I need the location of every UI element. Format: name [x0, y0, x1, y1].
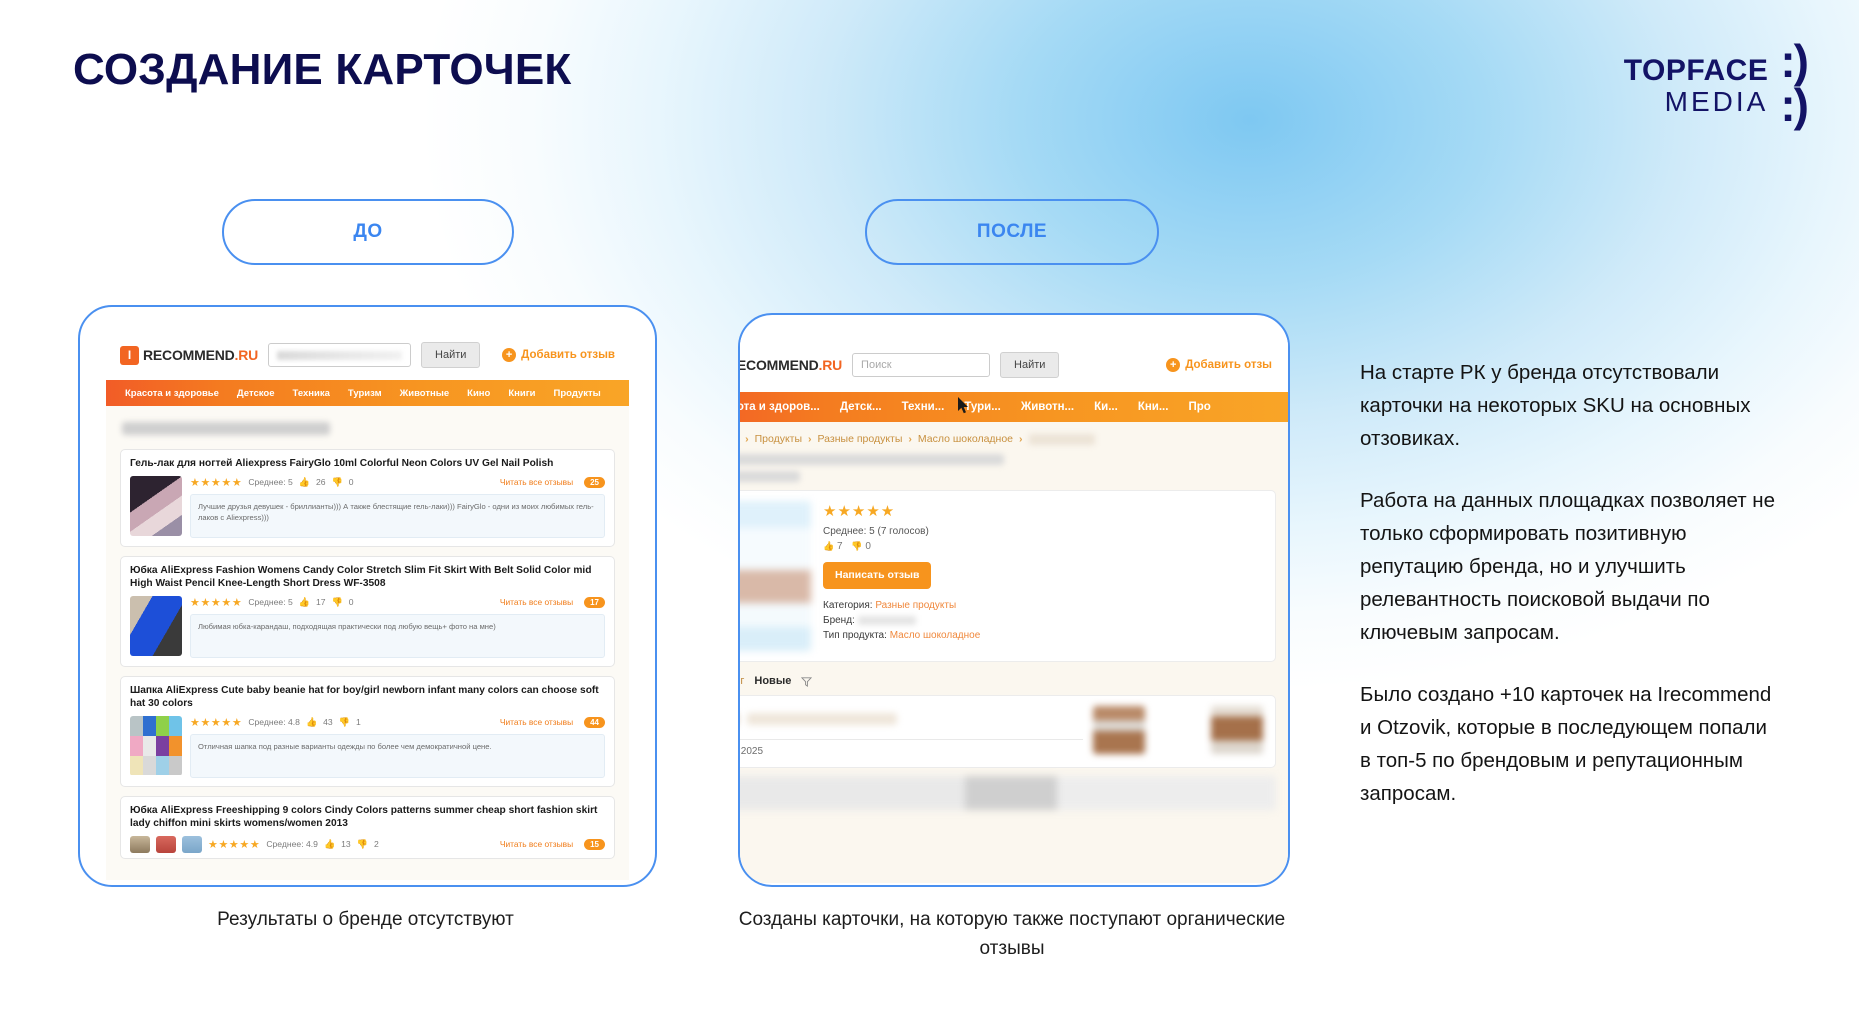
dislikes-count: 0	[349, 597, 354, 607]
category-label: Категория:	[823, 600, 873, 611]
chevron-right-icon: ›	[1019, 433, 1023, 445]
likes-count: 43	[323, 717, 333, 727]
review-snippet: Любимая юбка-карандаш, подходящая практи…	[190, 614, 605, 658]
mouse-cursor-icon	[958, 397, 970, 415]
smiley-icon: :) :)	[1780, 40, 1807, 127]
breadcrumb-current-blurred	[1029, 434, 1095, 445]
review-list-item[interactable]: Юбка AliExpress Freeshipping 9 colors Ci…	[120, 796, 615, 859]
review-count-badge: 25	[584, 477, 605, 488]
product-card: ★★★★★ Среднее: 5 (7 голосов) 👍 7 👎 0 Нап…	[738, 490, 1276, 662]
smiley-glyph-bottom: :)	[1780, 84, 1807, 128]
average-rating: Среднее: 5	[248, 597, 292, 607]
screenshot-frame-after: I RECOMMEND.RU Поиск Найти + Добавить от…	[738, 313, 1290, 887]
average-rating: Среднее: 4.8	[248, 717, 300, 727]
likes-count: 7	[837, 541, 843, 552]
breadcrumb: ..зывов › Продукты › Разные продукты › М…	[738, 422, 1288, 454]
nav-item[interactable]: Кни...	[1128, 401, 1179, 413]
description-copy: На старте РК у бренда отсутствовали карт…	[1360, 356, 1780, 810]
review-sort-tabs: Рейтинг Новые	[738, 662, 1288, 695]
chevron-right-icon: ›	[745, 433, 749, 445]
brand-value-blurred	[858, 616, 916, 625]
rating-stars: ★★★★★	[190, 596, 242, 609]
recommend-logo-icon[interactable]: I RECOMMEND.RU	[120, 346, 258, 365]
find-button-before[interactable]: Найти	[421, 342, 480, 368]
thumbs-down-icon[interactable]: 👎	[851, 541, 862, 551]
type-value[interactable]: Масло шоколадное	[890, 630, 981, 641]
tab-sort-rating[interactable]: Рейтинг	[738, 675, 744, 687]
review-list-item[interactable]: Шапка AliExpress Cute baby beanie hat fo…	[120, 676, 615, 787]
review-thumbnail	[130, 836, 150, 853]
site-header-after: I RECOMMEND.RU Поиск Найти + Добавить от…	[738, 338, 1288, 392]
rating-stars: ★★★★★	[190, 716, 242, 729]
nav-item[interactable]: Техни...	[892, 401, 955, 413]
nav-item[interactable]: Ки...	[1084, 401, 1128, 413]
review-photo[interactable]	[1211, 706, 1263, 754]
review-title[interactable]: Юбка AliExpress Fashion Womens Candy Col…	[130, 564, 605, 591]
nav-item[interactable]: Детское	[228, 388, 284, 399]
product-category-row: Категория: Разные продукты	[823, 598, 1265, 613]
avatar	[738, 706, 739, 732]
search-input-after[interactable]: Поиск	[852, 353, 990, 377]
rating-stars: ★★★★★	[190, 476, 242, 489]
breadcrumb-item[interactable]: Продукты	[755, 433, 802, 445]
before-site-screenshot: I RECOMMEND.RU Найти + Добавить отзыв Кр…	[106, 330, 629, 880]
site-header-before: I RECOMMEND.RU Найти + Добавить отзыв	[106, 330, 629, 380]
product-brand-row: Бренд:	[823, 613, 1265, 628]
search-placeholder: Поиск	[861, 359, 891, 371]
nav-item[interactable]: Животн...	[1011, 401, 1084, 413]
screenshot-frame-before: I RECOMMEND.RU Найти + Добавить отзыв Кр…	[78, 305, 657, 887]
review-thumbnail	[156, 836, 176, 853]
review-count-badge: 15	[584, 839, 605, 850]
logo-media-text: MEDIA	[1665, 88, 1769, 116]
review-list-item[interactable]: Гель-лак для ногтей Aliexpress FairyGlo …	[120, 449, 615, 547]
caption-before: Результаты о бренде отсутствуют	[78, 905, 653, 934]
copy-paragraph-1: На старте РК у бренда отсутствовали карт…	[1360, 356, 1780, 456]
review-photo[interactable]	[1093, 706, 1145, 754]
search-input-before[interactable]	[268, 343, 411, 367]
review-thumbnail	[130, 476, 182, 536]
review-thumbnail	[130, 596, 182, 656]
category-value[interactable]: Разные продукты	[875, 600, 956, 611]
review-list-item[interactable]: Юбка AliExpress Fashion Womens Candy Col…	[120, 556, 615, 667]
product-image	[738, 501, 811, 651]
thumbs-down-icon: 👎	[339, 717, 350, 728]
caption-after: Созданы карточки, на которую также посту…	[718, 905, 1306, 964]
plus-icon: +	[502, 348, 516, 362]
recommend-logo-icon[interactable]: I RECOMMEND.RU	[738, 356, 842, 375]
filter-funnel-icon[interactable]	[801, 676, 812, 687]
review-photo[interactable]	[1152, 706, 1204, 754]
page-heading-blurred	[106, 406, 629, 449]
reviewer-name-blurred	[747, 713, 897, 725]
thumbs-up-icon: 👍	[299, 477, 310, 488]
thumbs-down-icon: 👎	[357, 839, 368, 850]
review-date: 16.03.2025	[738, 739, 1083, 757]
likes-count: 17	[316, 597, 326, 607]
recommend-tld: .RU	[235, 347, 259, 363]
thumbs-down-icon: 👎	[332, 477, 343, 488]
dislikes-count: 0	[349, 477, 354, 487]
review-title[interactable]: Гель-лак для ногтей Aliexpress FairyGlo …	[130, 457, 605, 471]
average-value: Среднее: 5	[823, 526, 875, 537]
copy-paragraph-3: Было создано +10 карточек на Irecommend …	[1360, 678, 1780, 811]
rating-stars: ★★★★★	[208, 838, 260, 851]
product-average-rating: Среднее: 5 (7 голосов)	[823, 524, 1265, 539]
add-review-label: Добавить отзыв	[521, 349, 615, 361]
copy-paragraph-2: Работа на данных площадках позволяет не …	[1360, 484, 1780, 650]
product-title-blurred	[738, 454, 1288, 490]
review-title[interactable]: Юбка AliExpress Freeshipping 9 colors Ci…	[130, 804, 605, 831]
recommend-logo-text: RECOMMEND.RU	[738, 357, 842, 373]
nav-item[interactable]: Красота и здоров...	[738, 401, 830, 413]
dislikes-count: 0	[865, 541, 871, 552]
dislikes-count: 2	[374, 839, 379, 849]
review-photo-strip[interactable]	[1093, 706, 1263, 757]
review-count-badge: 44	[584, 717, 605, 728]
site-nav-before: Красота и здоровье Детское Техника Туриз…	[106, 380, 629, 406]
tab-before[interactable]: ДО	[222, 199, 514, 265]
breadcrumb-item[interactable]: ..зывов	[738, 433, 739, 445]
likes-count: 26	[316, 477, 326, 487]
rating-stars: ★★★★★	[823, 501, 1265, 524]
read-all-reviews-link[interactable]: Читать все отзывы	[500, 717, 573, 727]
read-all-reviews-link[interactable]: Читать все отзывы	[500, 477, 573, 487]
chevron-right-icon: ›	[908, 433, 912, 445]
recommend-mark-icon: I	[120, 346, 139, 365]
product-type-row: Тип продукта: Масло шоколадное	[823, 628, 1265, 643]
recommend-name: RECOMMEND	[738, 357, 819, 373]
average-rating: Среднее: 4.9	[266, 839, 318, 849]
review-title[interactable]: Шапка AliExpress Cute baby beanie hat fo…	[130, 684, 605, 711]
breadcrumb-item[interactable]: Разные продукты	[818, 433, 903, 445]
review-card[interactable]: 16.03.2025	[738, 695, 1276, 768]
plus-icon: +	[1166, 358, 1180, 372]
nav-item[interactable]: Животные	[391, 388, 459, 399]
thumbs-down-icon: 👎	[332, 597, 343, 608]
recommend-logo-text: RECOMMEND.RU	[143, 347, 258, 363]
review-thumbnail	[130, 716, 182, 776]
review-snippet: Лучшие друзья девушек - бриллианты))) А …	[190, 494, 605, 538]
breadcrumb-item[interactable]: Масло шоколадное	[918, 433, 1013, 445]
review-thumbnail	[182, 836, 202, 853]
thumbs-up-icon[interactable]: 👍	[823, 541, 834, 551]
recommend-name: RECOMMEND	[143, 347, 235, 363]
logo-wordmark: TOPFACE MEDIA	[1624, 56, 1769, 116]
smiley-glyph-top: :)	[1780, 40, 1807, 84]
logo-topface-text: TOPFACE	[1624, 56, 1769, 86]
product-votes-row: 👍 7 👎 0	[823, 539, 1265, 554]
votes-count: (7 голосов)	[878, 526, 929, 537]
thumbs-up-icon: 👍	[299, 597, 310, 608]
nav-item[interactable]: Продукты	[545, 388, 610, 399]
nav-item[interactable]: Книги	[499, 388, 544, 399]
type-label: Тип продукта:	[823, 630, 887, 641]
find-button-after[interactable]: Найти	[1000, 352, 1059, 378]
nav-item[interactable]: Техника	[284, 388, 339, 399]
likes-count: 13	[341, 839, 351, 849]
nav-item[interactable]: Красота и здоровье	[116, 388, 228, 399]
recommend-tld: .RU	[819, 357, 843, 373]
nav-item[interactable]: Детск...	[830, 401, 892, 413]
thumbs-up-icon: 👍	[306, 717, 317, 728]
nav-item[interactable]: Про	[1178, 401, 1220, 413]
add-review-link-after[interactable]: + Добавить отзы	[1166, 358, 1272, 372]
review-count-badge: 17	[584, 597, 605, 608]
brand-logo: TOPFACE MEDIA :) :)	[1624, 44, 1807, 127]
brand-label: Бренд:	[823, 615, 855, 626]
site-nav-after: Красота и здоров... Детск... Техни... Ту…	[738, 392, 1288, 422]
read-all-reviews-link[interactable]: Читать все отзывы	[500, 839, 573, 849]
add-review-label: Добавить отзы	[1185, 359, 1272, 371]
add-review-link-before[interactable]: + Добавить отзыв	[502, 348, 615, 362]
write-review-button[interactable]: Написать отзыв	[823, 562, 931, 590]
thumbs-up-icon: 👍	[324, 839, 335, 850]
tab-after[interactable]: ПОСЛЕ	[865, 199, 1159, 265]
page-title: СОЗДАНИЕ КАРТОЧЕК	[73, 45, 572, 95]
nav-item[interactable]: Туризм	[339, 388, 391, 399]
review-snippet: Отличная шапка под разные варианты одежд…	[190, 734, 605, 778]
nav-item[interactable]: Кино	[458, 388, 499, 399]
tab-sort-new[interactable]: Новые	[754, 675, 791, 687]
review-text-blurred	[738, 776, 1276, 810]
read-all-reviews-link[interactable]: Читать все отзывы	[500, 597, 573, 607]
average-rating: Среднее: 5	[248, 477, 292, 487]
dislikes-count: 1	[356, 717, 361, 727]
chevron-right-icon: ›	[808, 433, 812, 445]
after-site-screenshot: I RECOMMEND.RU Поиск Найти + Добавить от…	[738, 338, 1288, 883]
